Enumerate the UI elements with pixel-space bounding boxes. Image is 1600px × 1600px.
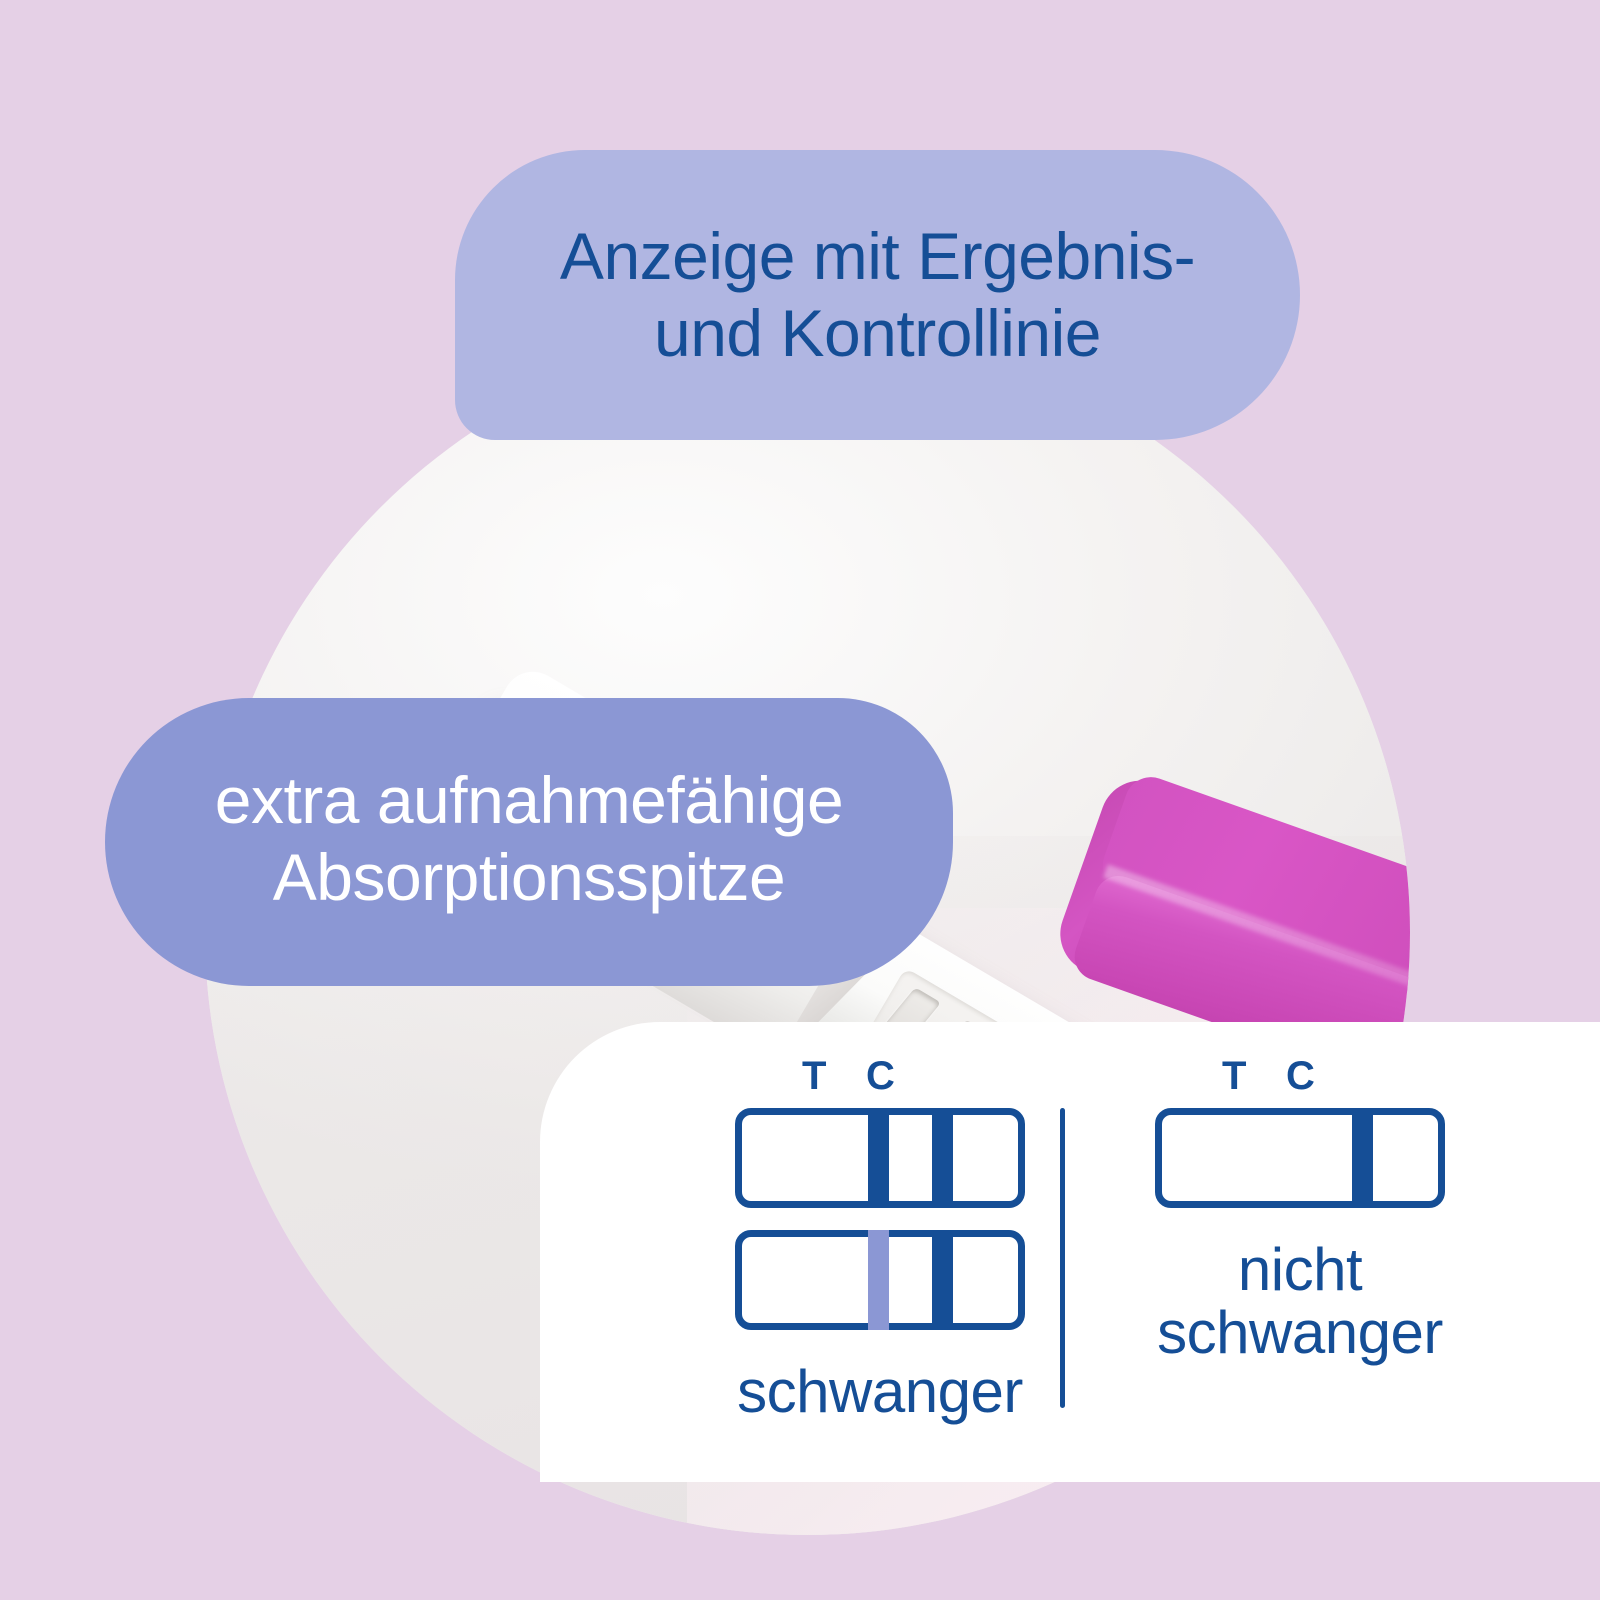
legend-pregnant-group: T C schwanger bbox=[670, 1022, 1090, 1423]
callout-display-line-text-2: und Kontrollinie bbox=[654, 296, 1101, 370]
band-c-strong bbox=[932, 1108, 953, 1208]
promo-image-canvas: Anzeige mit Ergebnis- und Kontrollinie e… bbox=[0, 0, 1600, 1600]
band-c-strong bbox=[932, 1230, 953, 1330]
result-legend-panel: T C schwanger T bbox=[540, 1022, 1600, 1482]
legend-caption-not-pregnant: nicht schwanger bbox=[1157, 1238, 1443, 1364]
legend-caption-pregnant-text: schwanger bbox=[737, 1360, 1023, 1423]
legend-caption-pregnant: schwanger bbox=[737, 1360, 1023, 1423]
marker-c-label: C bbox=[866, 1054, 896, 1099]
callout-absorbent-tip-text-1: extra aufnahmefähige bbox=[215, 763, 843, 837]
legend-caption-not-pregnant-line1: nicht bbox=[1157, 1238, 1443, 1301]
marker-t-label: T bbox=[802, 1054, 827, 1099]
legend-pregnant-markers: T C bbox=[670, 1054, 1090, 1100]
band-t-strong bbox=[868, 1108, 889, 1208]
legend-divider bbox=[1060, 1108, 1065, 1408]
legend-cassette-pregnant-1 bbox=[735, 1108, 1025, 1208]
callout-display-line: Anzeige mit Ergebnis- und Kontrollinie bbox=[455, 150, 1300, 440]
legend-not-pregnant-markers: T C bbox=[1090, 1054, 1510, 1100]
marker-t-label: T bbox=[1222, 1054, 1247, 1099]
legend-caption-not-pregnant-line2: schwanger bbox=[1157, 1301, 1443, 1364]
band-t-faint bbox=[868, 1230, 889, 1330]
band-c-strong bbox=[1352, 1108, 1373, 1208]
legend-cassette-pregnant-2 bbox=[735, 1230, 1025, 1330]
legend-not-pregnant-group: T C nicht schwanger bbox=[1090, 1022, 1510, 1364]
callout-absorbent-tip-text-2: Absorptionsspitze bbox=[273, 840, 785, 914]
marker-c-label: C bbox=[1286, 1054, 1316, 1099]
legend-cassette-not-pregnant-1 bbox=[1155, 1108, 1445, 1208]
callout-absorbent-tip: extra aufnahmefähige Absorptionsspitze bbox=[105, 698, 953, 986]
callout-display-line-text-1: Anzeige mit Ergebnis- bbox=[560, 219, 1195, 293]
